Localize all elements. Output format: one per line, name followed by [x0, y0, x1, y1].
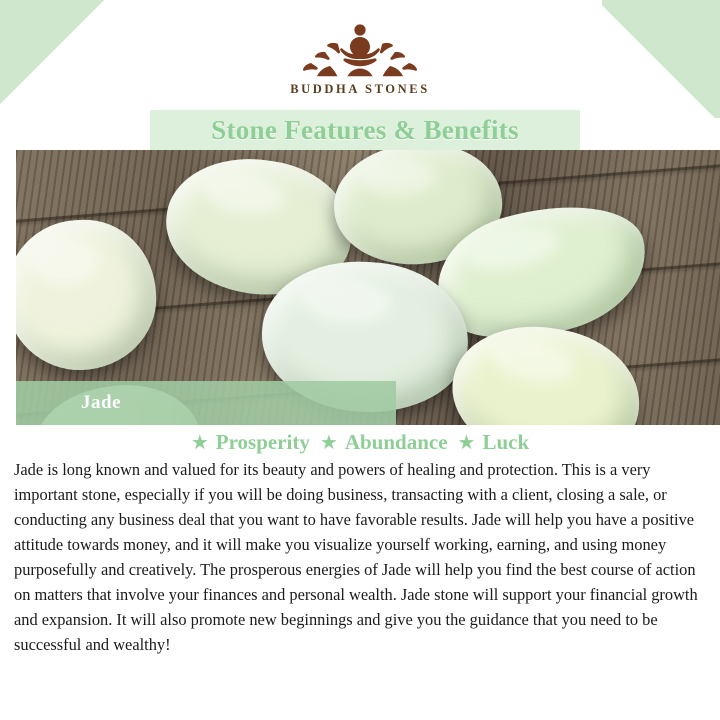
keyword-label: Abundance — [345, 430, 448, 455]
description-paragraph: Jade is long known and valued for its be… — [14, 458, 708, 658]
stone-name: Jade — [81, 392, 121, 414]
brand-logo-block: BUDDHA STONES — [0, 16, 720, 97]
star-icon: ★ — [320, 433, 338, 453]
keyword-label: Prosperity — [216, 430, 310, 455]
stone-name-label: Jade — [16, 381, 396, 425]
section-banner: Stone Features & Benefits — [150, 110, 580, 150]
jade-stone — [16, 217, 159, 372]
keyword-row: ★ Prosperity ★ Abundance ★ Luck — [0, 430, 720, 455]
keyword-item-abundance: ★ Abundance — [320, 430, 448, 455]
brand-name: BUDDHA STONES — [290, 82, 430, 97]
keyword-item-luck: ★ Luck — [458, 430, 530, 455]
keyword-item-prosperity: ★ Prosperity — [191, 430, 310, 455]
star-icon: ★ — [191, 433, 209, 453]
lotus-meditating-figure-icon — [297, 16, 423, 78]
product-info-card: BUDDHA STONES Stone Features & Benefits … — [0, 0, 720, 720]
page-title: Stone Features & Benefits — [211, 115, 519, 146]
keyword-label: Luck — [482, 430, 529, 455]
star-icon: ★ — [458, 433, 476, 453]
